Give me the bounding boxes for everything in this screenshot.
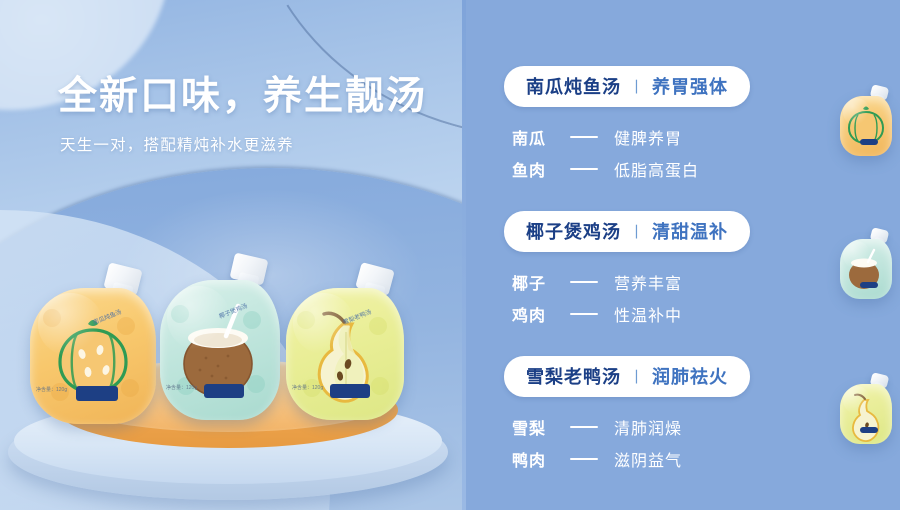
product-info-panel: 南瓜炖鱼汤 丨 养胃强体 南瓜 健脾养胃 鱼肉 低脂高蛋白 (462, 0, 900, 510)
pouch-sheen (843, 241, 870, 269)
page-subtitle: 天生一对，搭配精炖补水更滋养 (60, 133, 438, 155)
coconut-pouch-small (840, 239, 892, 299)
dash-separator-icon (570, 281, 598, 283)
product-card-pumpkin-fish-soup: 南瓜炖鱼汤 丨 养胃强体 南瓜 健脾养胃 鱼肉 低脂高蛋白 (504, 66, 900, 185)
pouch-body (286, 288, 404, 420)
panel-divider (462, 0, 466, 510)
pouch-body (160, 280, 280, 420)
dash-separator-icon (570, 136, 598, 138)
pumpkin-pouch-small (840, 96, 892, 156)
product-benefit: 清甜温补 (652, 218, 728, 244)
pouch-brand-badge (204, 384, 244, 398)
promo-banner: 全新口味，养生靓汤 天生一对，搭配精炖补水更滋养 (0, 0, 900, 510)
ingredient-name: 南瓜 (512, 125, 558, 149)
product-title-pill[interactable]: 南瓜炖鱼汤 丨 养胃强体 (504, 66, 750, 107)
product-name: 雪梨老鸭汤 (526, 363, 621, 389)
page-title: 全新口味，养生靓汤 (58, 76, 438, 119)
product-card-pear-duck-soup: 雪梨老鸭汤 丨 润肺祛火 雪梨 清肺润燥 鸭肉 滋阴益气 (504, 356, 900, 475)
hero-panel: 全新口味，养生靓汤 天生一对，搭配精炖补水更滋养 (0, 0, 462, 510)
ingredient-benefit: 性温补中 (614, 302, 682, 326)
ingredient-name: 椰子 (512, 270, 558, 294)
pear-pouch-large: 雪梨老鸭汤 净含量：120g (286, 288, 404, 420)
pouch-body (30, 288, 156, 424)
product-benefit: 润肺祛火 (652, 363, 728, 389)
ingredient-name: 鱼肉 (512, 157, 558, 181)
pouch-body (840, 239, 892, 299)
product-benefit: 养胃强体 (652, 73, 728, 99)
pouch-net-weight: 净含量：120g (36, 386, 67, 393)
pouch-net-weight: 净含量：120g (166, 384, 197, 391)
pouch-sheen (843, 386, 870, 414)
dash-separator-icon (570, 426, 598, 428)
title-separator: 丨 (628, 76, 645, 97)
ingredient-name: 鸭肉 (512, 447, 558, 471)
ingredient-benefit: 营养丰富 (614, 270, 682, 294)
title-separator: 丨 (628, 366, 645, 387)
ingredient-name: 雪梨 (512, 415, 558, 439)
coconut-pouch-large: 椰子煲鸡汤 净含量：120g (160, 280, 280, 420)
pouch-body (840, 384, 892, 444)
ingredient-benefit: 滋阴益气 (614, 447, 682, 471)
product-name: 南瓜炖鱼汤 (526, 73, 621, 99)
pear-pouch-small (840, 384, 892, 444)
product-name: 椰子煲鸡汤 (526, 218, 621, 244)
pouch-brand-badge (330, 384, 370, 398)
pouch-brand-badge (860, 427, 878, 433)
pouch-brand-badge (76, 386, 118, 401)
ingredient-benefit: 健脾养胃 (614, 125, 682, 149)
pumpkin-pouch-large: 南瓜炖鱼汤 净含量：120g (30, 288, 156, 424)
ingredient-benefit: 清肺润燥 (614, 415, 682, 439)
dash-separator-icon (570, 313, 598, 315)
pouch-sheen (843, 98, 870, 126)
dash-separator-icon (570, 168, 598, 170)
product-title-pill[interactable]: 雪梨老鸭汤 丨 润肺祛火 (504, 356, 750, 397)
pouch-body (840, 96, 892, 156)
ingredient-row: 鸡肉 性温补中 (512, 298, 900, 330)
title-separator: 丨 (628, 221, 645, 242)
ingredient-row: 鸭肉 滋阴益气 (512, 443, 900, 475)
ingredient-row: 鱼肉 低脂高蛋白 (512, 153, 900, 185)
ingredient-name: 鸡肉 (512, 302, 558, 326)
product-card-coconut-chicken-soup: 椰子煲鸡汤 丨 清甜温补 椰子 营养丰富 鸡肉 性温补中 (504, 211, 900, 330)
pouch-net-weight: 净含量：120g (292, 384, 323, 391)
hero-text-block: 全新口味，养生靓汤 天生一对，搭配精炖补水更滋养 (58, 76, 438, 155)
dash-separator-icon (570, 458, 598, 460)
product-title-pill[interactable]: 椰子煲鸡汤 丨 清甜温补 (504, 211, 750, 252)
pouch-brand-badge (860, 139, 878, 145)
pouch-brand-badge (860, 282, 878, 288)
ingredient-benefit: 低脂高蛋白 (614, 157, 699, 181)
